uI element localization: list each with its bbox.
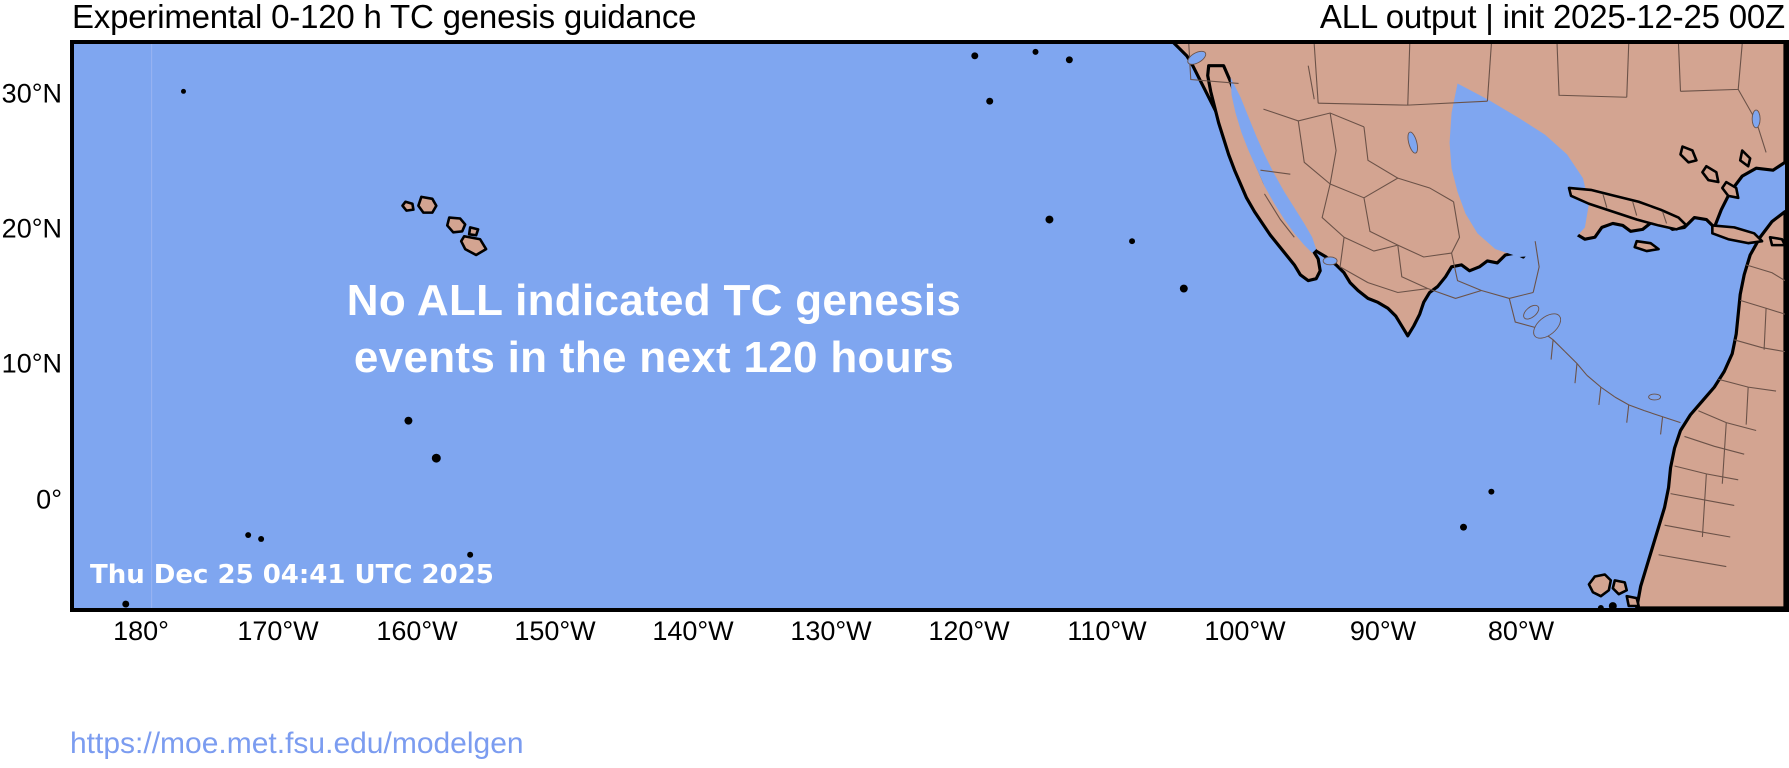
y-tick-label-0: 0° — [36, 485, 62, 516]
x-tick-label-80w: 80°W — [1488, 616, 1554, 647]
x-tick-label-120w: 120°W — [928, 616, 1009, 647]
chart-header: Experimental 0-120 h TC genesis guidance… — [0, 0, 1789, 40]
x-tick-label-180: 180° — [113, 616, 169, 647]
header-init-info: ALL output | init 2025-12-25 00Z — [1320, 0, 1785, 36]
islands-galapagos — [1589, 574, 1639, 608]
x-tick-label-90w: 90°W — [1350, 616, 1416, 647]
landmass-south-america — [1637, 212, 1785, 608]
y-tick-label-10n: 10°N — [2, 349, 62, 380]
x-tick-label-170w: 170°W — [237, 616, 318, 647]
timestamp-label: Thu Dec 25 04:41 UTC 2025 — [90, 560, 494, 590]
x-tick-label-100w: 100°W — [1204, 616, 1285, 647]
y-tick-label-30n: 30°N — [2, 79, 62, 110]
x-tick-label-130w: 130°W — [790, 616, 871, 647]
x-tick-label-150w: 150°W — [514, 616, 595, 647]
basemap-graphic: .land{fill:#d3a491;stroke:#000;stroke-wi… — [74, 44, 1785, 608]
source-url-link[interactable]: https://moe.met.fsu.edu/modelgen — [70, 727, 524, 761]
y-tick-label-20n: 20°N — [2, 214, 62, 245]
islands-hawaii — [402, 197, 486, 255]
map-plot-area[interactable]: .land{fill:#d3a491;stroke:#000;stroke-wi… — [70, 40, 1789, 612]
x-tick-label-110w: 110°W — [1067, 616, 1146, 647]
x-tick-label-140w: 140°W — [652, 616, 733, 647]
x-tick-label-160w: 160°W — [376, 616, 457, 647]
page-title: Experimental 0-120 h TC genesis guidance — [72, 0, 696, 36]
